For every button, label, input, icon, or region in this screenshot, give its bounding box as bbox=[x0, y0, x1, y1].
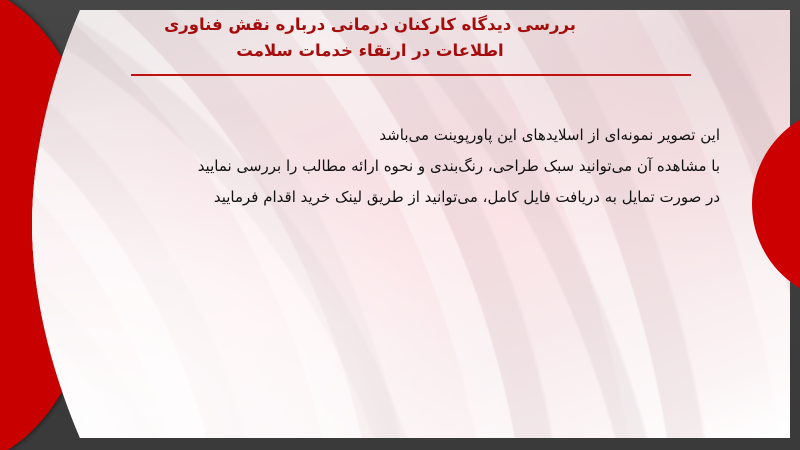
title-line-2: اطلاعات در ارتقاء خدمات سلامت bbox=[0, 38, 740, 64]
presentation-slide: بررسی دیدگاه کارکنان درمانی درباره نقش ف… bbox=[0, 0, 800, 450]
body-line-3: در صورت تمایل به دریافت فایل کامل، می‌تو… bbox=[40, 182, 720, 213]
body-line-1: این تصویر نمونه‌ای از اسلایدهای این پاور… bbox=[40, 120, 720, 151]
slide-title: بررسی دیدگاه کارکنان درمانی درباره نقش ف… bbox=[0, 12, 740, 64]
title-divider-rule bbox=[131, 74, 691, 76]
title-line-1: بررسی دیدگاه کارکنان درمانی درباره نقش ف… bbox=[0, 12, 740, 38]
body-line-2: با مشاهده آن می‌توانید سبک طراحی، رنگ‌بن… bbox=[40, 151, 720, 182]
slide-body-text: این تصویر نمونه‌ای از اسلایدهای این پاور… bbox=[40, 120, 720, 213]
